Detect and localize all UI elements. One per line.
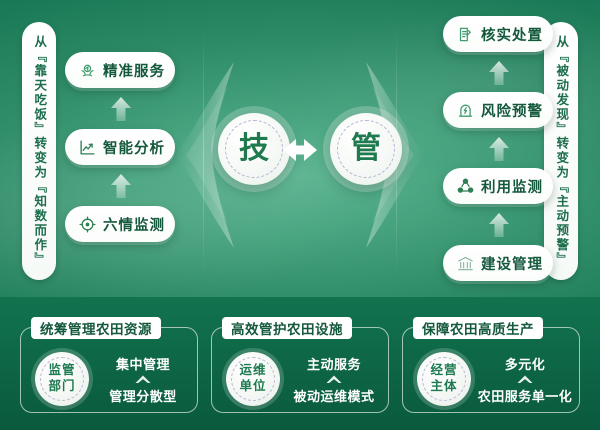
card-from-state: 管理分散型: [109, 386, 177, 405]
card-role-circle: 运维 单位: [226, 352, 280, 406]
bottom-card-farmland-resources: 统筹管理农田资源 监管 部门 集中管理 管理分散型: [20, 327, 198, 413]
chip-label: 智能分析: [103, 137, 165, 158]
flow-arrow-up-right-3-icon: [488, 212, 510, 238]
card-transition: 主动服务 被动运维模式: [280, 354, 388, 405]
radar-target-icon: [79, 216, 96, 233]
bottom-card-quality-production: 保障农田高质生产 经营 主体 多元化 农田服务单一化: [402, 327, 580, 413]
card-from-state: 被动运维模式: [293, 386, 374, 405]
hands-holding-plant-icon: [79, 62, 96, 79]
card-body: 监管 部门 集中管理 管理分散型: [21, 344, 197, 414]
flow-arrow-up-left-1-icon: [110, 96, 132, 122]
core-circle-management-text: 管: [351, 134, 381, 164]
side-banner-right: 从『被动发现』转变为『主动预警』: [544, 22, 578, 280]
chevron-up-icon: [134, 374, 152, 385]
card-role-circle: 监管 部门: [35, 352, 89, 406]
clipboard-check-icon: [457, 26, 474, 43]
card-role-line1: 监管: [48, 363, 75, 379]
chip-label: 精准服务: [103, 60, 165, 81]
side-banner-left: 从『靠天吃饭』转变为『知数而作』: [22, 22, 56, 280]
card-role-circle: 经营 主体: [417, 352, 471, 406]
card-role-line1: 经营: [430, 363, 457, 379]
card-to-state: 多元化: [505, 354, 546, 373]
recycle-nodes-icon: [457, 178, 474, 195]
card-role-line2: 单位: [239, 379, 266, 395]
chip-intelligent-analysis[interactable]: 智能分析: [65, 129, 175, 165]
card-from-state: 农田服务单一化: [478, 386, 573, 405]
card-title: 高效管护农田设施: [222, 317, 352, 339]
chip-label: 利用监测: [481, 176, 543, 197]
flow-arrow-up-right-1-icon: [488, 60, 510, 86]
side-banner-right-text: 从『被动发现』转变为『主动预警』: [555, 35, 568, 267]
flow-arrow-up-left-2-icon: [110, 173, 132, 199]
trend-chart-icon: [79, 139, 96, 156]
card-transition: 集中管理 管理分散型: [89, 354, 197, 405]
card-title: 统筹管理农田资源: [31, 317, 161, 339]
card-body: 经营 主体 多元化 农田服务单一化: [403, 344, 579, 414]
flow-arrow-up-right-2-icon: [488, 136, 510, 162]
chip-label: 风险预警: [481, 100, 543, 121]
card-body: 运维 单位 主动服务 被动运维模式: [212, 344, 388, 414]
card-transition: 多元化 农田服务单一化: [471, 354, 579, 405]
card-role-line2: 部门: [48, 379, 75, 395]
card-role-line2: 主体: [430, 379, 457, 395]
card-role-line1: 运维: [239, 363, 266, 379]
chevron-up-icon: [325, 374, 343, 385]
chip-verify-disposal[interactable]: 核实处置: [443, 16, 553, 52]
chevron-up-icon: [516, 374, 534, 385]
card-to-state: 主动服务: [307, 354, 361, 373]
chip-label: 核实处置: [481, 24, 543, 45]
side-banner-left-text: 从『靠天吃饭』转变为『知数而作』: [33, 35, 46, 267]
alert-lightning-icon: [457, 102, 474, 119]
double-arrow-icon: [265, 135, 335, 165]
chip-six-condition-monitoring[interactable]: 六情监测: [65, 206, 175, 242]
chip-risk-warning[interactable]: 风险预警: [443, 92, 553, 128]
chip-precision-service[interactable]: 精准服务: [65, 52, 175, 88]
core-circle-management: 管: [330, 113, 402, 185]
bank-building-icon: [457, 255, 474, 272]
chip-label: 六情监测: [103, 214, 165, 235]
chip-label: 建设管理: [481, 253, 543, 274]
infographic-canvas: 从『靠天吃饭』转变为『知数而作』 从『被动发现』转变为『主动预警』 精准服务: [0, 0, 600, 430]
bottom-card-farmland-facilities: 高效管护农田设施 运维 单位 主动服务 被动运维模式: [211, 327, 389, 413]
card-title: 保障农田高质生产: [413, 317, 543, 339]
chip-utilization-monitoring[interactable]: 利用监测: [443, 168, 553, 204]
card-to-state: 集中管理: [116, 354, 170, 373]
chip-construction-management[interactable]: 建设管理: [443, 245, 553, 281]
